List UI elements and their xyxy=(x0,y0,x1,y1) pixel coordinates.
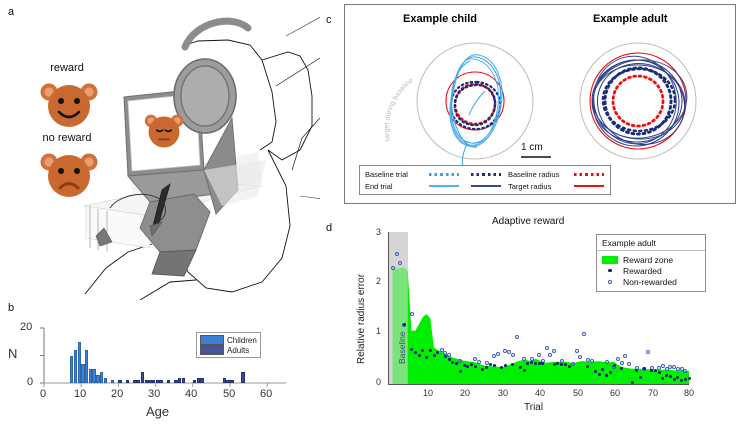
rewarded-point xyxy=(444,355,447,358)
rewarded-point xyxy=(425,356,428,359)
non-rewarded-point xyxy=(545,346,549,350)
panel-b-ytick-20: 20 xyxy=(20,321,32,333)
legend-row-reward-zone: Reward zone xyxy=(597,254,705,265)
non-rewarded-point xyxy=(485,361,489,365)
rewarded-point xyxy=(661,377,664,380)
non-rewarded-point xyxy=(548,353,552,357)
panel-b-xtick-40: 40 xyxy=(185,388,197,400)
rewarded-point xyxy=(643,367,646,370)
rewarded-point xyxy=(658,371,661,374)
panel-b-xtick-60: 60 xyxy=(260,388,272,400)
end-trial-adult-swatch xyxy=(471,185,501,187)
rewarded-point xyxy=(421,349,424,352)
target-baseline-annotation: target during baseline xyxy=(384,77,415,141)
rewarded-point xyxy=(538,362,541,365)
rewarded-point xyxy=(410,348,413,351)
rewarded-point xyxy=(553,363,556,366)
reward-label: reward xyxy=(26,62,108,74)
legend-row-end-trial: End trial xyxy=(365,180,501,192)
legend-item-adults: Adults xyxy=(200,345,257,355)
histogram-bar xyxy=(104,378,107,384)
reward-bear-icon xyxy=(34,78,104,134)
rewarded-point xyxy=(534,362,537,365)
histogram-bar xyxy=(159,380,162,383)
target-radius-label: Target radius xyxy=(508,182,574,191)
panel-d-xtick-50: 50 xyxy=(573,388,583,398)
non-rewarded-point xyxy=(620,361,624,365)
rewarded-point xyxy=(519,366,522,369)
non-rewarded-point xyxy=(616,357,620,361)
panel-b-legend: Children Adults xyxy=(196,332,261,358)
non-rewarded-point xyxy=(582,332,586,336)
rewarded-point xyxy=(650,369,653,372)
rewarded-point xyxy=(598,373,601,376)
end-trial-child-swatch xyxy=(429,185,459,187)
scale-bar-label: 1 cm xyxy=(521,142,543,153)
panel-d-adaptive-reward: Adaptive reward Relative radius error 3 … xyxy=(344,214,736,440)
rewarded-point xyxy=(669,375,672,378)
rewarded-point xyxy=(429,349,432,352)
rewarded-point xyxy=(526,362,529,365)
panel-d-legend-title: Example adult xyxy=(597,235,705,251)
baseline-label: Baseline xyxy=(397,331,407,364)
rewarded-point xyxy=(541,362,544,365)
no-reward-bear-icon xyxy=(34,148,104,204)
non-rewarded-point xyxy=(552,349,556,353)
panel-d-xtick-70: 70 xyxy=(648,388,658,398)
rewarded-point xyxy=(688,377,691,380)
rewarded-point xyxy=(601,368,604,371)
baseline-radius-label: Baseline radius xyxy=(508,170,574,179)
rewarded-point xyxy=(605,374,608,377)
rewarded-point xyxy=(455,362,458,365)
children-swatch xyxy=(200,335,224,345)
non-rewarded-point xyxy=(458,359,462,363)
rewarded-point xyxy=(684,378,687,381)
histogram-bar xyxy=(230,380,233,383)
rewarded-point xyxy=(459,370,462,373)
rewarded-point xyxy=(676,376,679,379)
rewarded-point xyxy=(665,374,668,377)
non-rewarded-point xyxy=(395,252,399,256)
rewarded-point xyxy=(414,351,417,354)
panel-d-ytick-3: 3 xyxy=(376,227,381,237)
target-radius-swatch xyxy=(574,185,604,187)
panel-b-ytick-0: 0 xyxy=(27,376,33,388)
rewarded-point xyxy=(485,366,488,369)
rewarded-point xyxy=(451,361,454,364)
non-rewarded-point xyxy=(683,369,687,373)
panel-b-age-histogram: b 20 0 N 0 10 20 30 40 50 60 Age xyxy=(0,300,320,444)
rewarded-point xyxy=(564,363,567,366)
histogram-bar xyxy=(126,380,129,383)
rewarded-point xyxy=(586,365,589,368)
non-rewarded-point xyxy=(391,266,395,270)
legend-item-children: Children xyxy=(200,335,257,345)
histogram-bar xyxy=(200,378,203,384)
rewarded-point xyxy=(481,368,484,371)
panel-b-xtick-30: 30 xyxy=(148,388,160,400)
children-label: Children xyxy=(227,336,257,345)
panel-d-xtick-80: 80 xyxy=(684,388,694,398)
reward-zone-label: Reward zone xyxy=(623,255,673,265)
rewarded-point xyxy=(530,361,533,364)
non-rewarded-point xyxy=(605,360,609,364)
adults-label: Adults xyxy=(227,346,249,355)
panel-d-xtick-20: 20 xyxy=(460,388,470,398)
histogram-bar xyxy=(167,380,170,383)
non-rewarded-point xyxy=(575,349,579,353)
rewarded-point xyxy=(673,378,676,381)
panel-d-ytick-2: 2 xyxy=(376,276,381,286)
legend-row-non-rewarded: Non-rewarded xyxy=(597,276,705,287)
non-rewarded-swatch xyxy=(602,280,618,284)
panel-d-title: Adaptive reward xyxy=(492,216,564,227)
rewarded-point xyxy=(448,358,451,361)
rewarded-point xyxy=(680,379,683,382)
histogram-bar xyxy=(111,380,114,383)
rewarded-point xyxy=(489,363,492,366)
baseline-radius-swatch xyxy=(574,173,604,176)
rewarded-point xyxy=(511,363,514,366)
non-rewarded-label: Non-rewarded xyxy=(623,277,677,287)
rewarded-point xyxy=(466,365,469,368)
baseline-trial-label: Baseline trial xyxy=(365,170,429,179)
non-rewarded-point xyxy=(578,355,582,359)
histogram-bar xyxy=(241,372,244,383)
panel-a-illustration: a xyxy=(0,0,320,300)
rewarded-label: Rewarded xyxy=(623,266,662,276)
non-rewarded-point xyxy=(410,312,414,316)
histogram-bar xyxy=(118,380,121,383)
rewarded-point xyxy=(474,365,477,368)
non-rewarded-point xyxy=(623,354,627,358)
rewarded-point xyxy=(556,362,559,365)
rewarded-point xyxy=(504,364,507,367)
end-trial-label: End trial xyxy=(365,182,429,191)
non-rewarded-point xyxy=(496,352,500,356)
non-rewarded-point xyxy=(627,362,631,366)
non-rewarded-point xyxy=(477,360,481,364)
rewarded-point xyxy=(609,371,612,374)
non-rewarded-point xyxy=(447,353,451,357)
svg-text:target during baseline: target during baseline xyxy=(384,77,415,141)
no-reward-label: no reward xyxy=(20,132,114,144)
non-rewarded-point xyxy=(571,362,575,366)
rewarded-point xyxy=(436,351,439,354)
rewarded-point xyxy=(493,364,496,367)
non-rewarded-point xyxy=(590,359,594,363)
panel-b-xtick-50: 50 xyxy=(223,388,235,400)
rewarded-point xyxy=(418,354,421,357)
non-rewarded-point xyxy=(398,261,402,265)
rewarded-point xyxy=(403,323,406,326)
histogram-bar xyxy=(182,378,185,384)
panel-d-xlabel: Trial xyxy=(524,402,543,413)
panel-c-letter: c xyxy=(326,14,332,26)
panel-d-ylabel: Relative radius error xyxy=(356,274,367,364)
adults-swatch xyxy=(200,345,224,355)
rewarded-point xyxy=(631,381,634,384)
baseline-trial-child-swatch xyxy=(429,173,459,176)
rewarded-point xyxy=(654,369,657,372)
panel-b-xtick-10: 10 xyxy=(74,388,86,400)
panel-c-traces: Example child Example adult targ xyxy=(344,4,736,204)
rewarded-point xyxy=(433,354,436,357)
rewarded-point xyxy=(594,370,597,373)
non-rewarded-point xyxy=(661,364,665,368)
non-rewarded-point xyxy=(537,353,541,357)
figure-root: a xyxy=(0,0,739,444)
panel-b-ylabel: N xyxy=(8,346,17,361)
legend-row-rewarded: Rewarded xyxy=(597,265,705,276)
panel-d-xtick-10: 10 xyxy=(423,388,433,398)
panel-b-xlabel: Age xyxy=(146,404,169,419)
rewarded-point xyxy=(568,365,571,368)
panel-d-ytick-1: 1 xyxy=(376,326,381,336)
rewarded-point xyxy=(470,363,473,366)
non-rewarded-point xyxy=(515,335,519,339)
non-rewarded-point xyxy=(646,350,650,354)
rewarded-point xyxy=(463,364,466,367)
rewarded-point xyxy=(523,369,526,372)
reward-zone-swatch xyxy=(602,256,618,264)
baseline-trial-adult-swatch xyxy=(471,173,501,176)
panel-d-xtick-40: 40 xyxy=(535,388,545,398)
panel-d-letter: d xyxy=(326,222,332,234)
rewarded-point xyxy=(560,363,563,366)
non-rewarded-point xyxy=(522,357,526,361)
non-rewarded-point xyxy=(511,353,515,357)
panel-d-ytick-0: 0 xyxy=(376,377,381,387)
rewarded-swatch xyxy=(602,269,618,272)
rewarded-point xyxy=(635,369,638,372)
rewarded-point xyxy=(620,367,623,370)
panel-b-xtick-20: 20 xyxy=(111,388,123,400)
rewarded-point xyxy=(639,376,642,379)
panel-d-xtick-30: 30 xyxy=(498,388,508,398)
panel-b-xtick-0: 0 xyxy=(40,388,46,400)
legend-row-baseline-radius: Baseline radius xyxy=(508,168,604,180)
panel-c-legend: Baseline trial End trial Baseline radius… xyxy=(359,165,611,195)
panel-d-xtick-60: 60 xyxy=(610,388,620,398)
legend-row-target-radius: Target radius xyxy=(508,180,604,192)
rewarded-point xyxy=(500,366,503,369)
panel-d-legend: Example adult Reward zone Rewarded No xyxy=(596,234,706,292)
legend-row-baseline-trial: Baseline trial xyxy=(365,168,501,180)
rewarded-point xyxy=(613,364,616,367)
